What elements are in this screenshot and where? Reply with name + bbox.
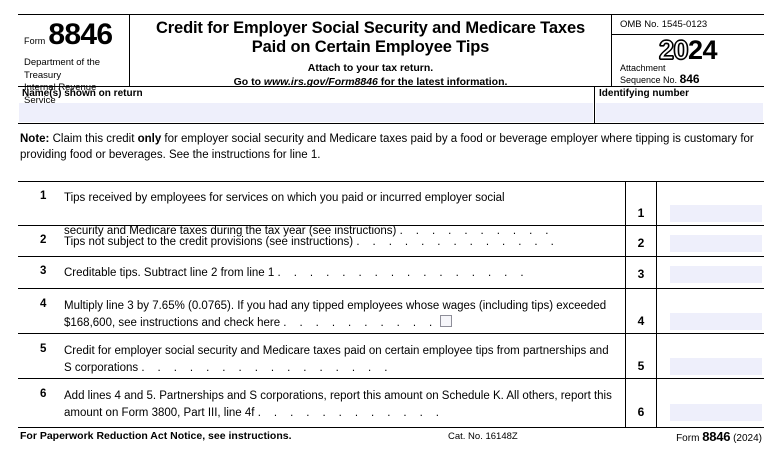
identifying-number-input[interactable] (596, 103, 763, 122)
line-6-text: 6 Add lines 4 and 5. Partnerships and S … (18, 379, 625, 426)
attachment-sequence-block: Attachment Sequence No. 846 (612, 63, 764, 86)
footer-form-identity: Form 8846 (2024) (676, 429, 762, 444)
header-title-block: Credit for Employer Social Security and … (130, 15, 612, 86)
line-4-box-number: 4 (625, 314, 657, 328)
line-6-number: 6 (40, 388, 46, 400)
form-title-line-2: Paid on Certain Employee Tips (130, 38, 611, 57)
form-number-row: Form 8846 (18, 20, 129, 50)
table-row-1: 1 Tips received by employees for service… (18, 182, 764, 226)
line-6-leader: . . . . . . . . . . . . (258, 407, 444, 419)
line-1-box-number: 1 (625, 206, 657, 220)
line-5-body: Credit for employer social security and … (64, 343, 617, 376)
line-3-text: 3 Creditable tips. Subtract line 2 from … (18, 257, 625, 288)
line-3-leader: . . . . . . . . . . . . . . . . (278, 267, 529, 279)
line-5-number: 5 (40, 343, 46, 355)
line-6-amount-input[interactable] (670, 404, 762, 421)
identifying-number-label: Identifying number (595, 87, 764, 103)
note-emphasis: only (138, 133, 162, 145)
form-number: 8846 (48, 20, 112, 50)
line-4-text: 4 Multiply line 3 by 7.65% (0.0765). If … (18, 289, 625, 333)
line-3-number: 3 (40, 265, 46, 277)
line-1-number: 1 (40, 190, 46, 202)
line-1-amount-input[interactable] (670, 205, 762, 222)
line-2-leader: . . . . . . . . . . . . . (356, 236, 558, 248)
line-4-amount-input[interactable] (670, 313, 762, 330)
line-4-text-part-1: Multiply line 3 by 7.65% (0.0765). If yo… (64, 300, 528, 312)
line-5-box-number: 5 (625, 359, 657, 373)
footer-year: (2024) (733, 433, 762, 444)
table-row-2: 2 Tips not subject to the credit provisi… (18, 226, 764, 257)
sequence-no-value: 846 (680, 72, 700, 86)
table-row-6: 6 Add lines 4 and 5. Partnerships and S … (18, 379, 764, 426)
name-input[interactable] (19, 103, 593, 122)
line-6-box-number: 6 (625, 405, 657, 419)
name-field-group: Name(s) shown on return (18, 87, 595, 123)
catalog-number: Cat. No. 16148Z (448, 431, 518, 442)
sequence-no-label: Sequence No. (620, 75, 677, 85)
footer-form-label: Form (676, 433, 699, 444)
form-label: Form (24, 36, 48, 46)
header-form-identity: Form 8846 Department of the Treasury Int… (18, 15, 130, 86)
tax-year: 2024 (659, 35, 717, 65)
note-paragraph: Note: Claim this credit only for employe… (20, 131, 760, 163)
table-row-5: 5 Credit for employer social security an… (18, 334, 764, 379)
taxpayer-identity-row: Name(s) shown on return Identifying numb… (18, 86, 764, 124)
tax-year-digits: 24 (688, 35, 717, 65)
attachment-sequence-row: Sequence No. 846 (620, 74, 764, 86)
line-2-body: Tips not subject to the credit provision… (64, 234, 617, 251)
line-4-checkbox[interactable] (440, 315, 452, 327)
omb-number: OMB No. 1545-0123 (612, 15, 764, 35)
form-title-line-1: Credit for Employer Social Security and … (130, 19, 611, 38)
line-6-body: Add lines 4 and 5. Partnerships and S co… (64, 388, 617, 421)
irs-form-8846: Form 8846 Department of the Treasury Int… (0, 0, 782, 469)
line-6-text-part-1: Add lines 4 and 5. Partnerships and S co… (64, 390, 519, 402)
footer-form-number: 8846 (702, 429, 730, 444)
line-5-leader: . . . . . . . . . . . . . . . . (141, 362, 392, 374)
credit-computation-table: 1 Tips received by employees for service… (18, 181, 764, 428)
line-1-text-part-1: Tips received by employees for services … (64, 192, 617, 221)
department-line-1: Department of the Treasury (24, 57, 129, 82)
line-3-amount-input[interactable] (670, 266, 762, 283)
name-label: Name(s) shown on return (18, 87, 594, 103)
line-3-text-part-1: Creditable tips. Subtract line 2 from li… (64, 267, 274, 279)
line-2-amount-input[interactable] (670, 235, 762, 252)
line-2-box-number: 2 (625, 236, 657, 250)
line-3-box-number: 3 (625, 267, 657, 281)
line-2-text-part-1: Tips not subject to the credit provision… (64, 236, 353, 248)
tax-year-block: 2024 (612, 35, 764, 64)
tax-year-century: 20 (659, 35, 688, 65)
table-row-3: 3 Creditable tips. Subtract line 2 from … (18, 257, 764, 289)
line-5-amount-input[interactable] (670, 358, 762, 375)
line-4-leader: . . . . . . . . . . (283, 317, 437, 329)
form-footer: For Paperwork Reduction Act Notice, see … (18, 429, 764, 447)
paperwork-notice: For Paperwork Reduction Act Notice, see … (20, 430, 292, 442)
line-2-number: 2 (40, 234, 46, 246)
note-label: Note: (20, 133, 49, 145)
identifying-number-group: Identifying number (595, 87, 764, 123)
line-5-text-part-1: Credit for employer social security and … (64, 345, 520, 357)
line-4-body: Multiply line 3 by 7.65% (0.0765). If yo… (64, 298, 617, 331)
attach-instruction: Attach to your tax return. (130, 62, 611, 74)
table-row-4: 4 Multiply line 3 by 7.65% (0.0765). If … (18, 289, 764, 334)
note-text-1: Claim this credit (49, 133, 137, 145)
line-1-text: 1 Tips received by employees for service… (18, 182, 625, 225)
form-header: Form 8846 Department of the Treasury Int… (18, 14, 764, 86)
line-2-text: 2 Tips not subject to the credit provisi… (18, 226, 625, 256)
line-4-number: 4 (40, 298, 46, 310)
line-5-text: 5 Credit for employer social security an… (18, 334, 625, 378)
line-3-body: Creditable tips. Subtract line 2 from li… (64, 265, 617, 282)
header-omb-block: OMB No. 1545-0123 2024 Attachment Sequen… (612, 15, 764, 86)
